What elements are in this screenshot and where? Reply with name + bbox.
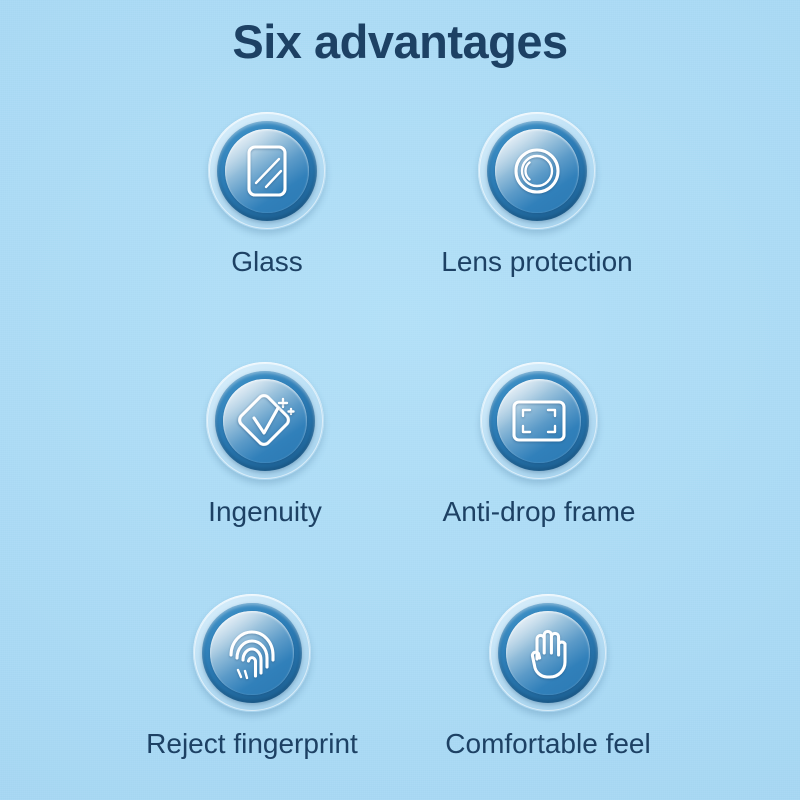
feature-label: Comfortable feel xyxy=(445,728,650,760)
feature-badge-ingenuity[interactable] xyxy=(206,362,324,480)
feature-badge-lens-protection[interactable] xyxy=(478,112,596,230)
feature-item-glass[interactable]: Glass xyxy=(142,112,392,278)
feature-label: Lens protection xyxy=(441,246,632,278)
features-row-1: Glass Lens protection xyxy=(0,112,800,362)
feature-label: Glass xyxy=(231,246,303,278)
features-row-2: Ingenuity xyxy=(0,362,800,594)
advantages-infographic: Six advantages Glass xyxy=(0,0,800,800)
badge-glossy-face xyxy=(497,379,581,463)
feature-badge-comfortable-feel[interactable] xyxy=(489,594,607,712)
feature-item-comfortable-feel[interactable]: Comfortable feel xyxy=(422,594,674,760)
feature-badge-glass[interactable] xyxy=(208,112,326,230)
feature-label: Reject fingerprint xyxy=(146,728,358,760)
badge-glossy-face xyxy=(223,379,307,463)
feature-badge-anti-drop-frame[interactable] xyxy=(480,362,598,480)
badge-glossy-face xyxy=(210,611,294,695)
feature-label: Ingenuity xyxy=(208,496,322,528)
feature-label: Anti-drop frame xyxy=(443,496,636,528)
feature-item-ingenuity[interactable]: Ingenuity xyxy=(140,362,390,528)
badge-glossy-face xyxy=(495,129,579,213)
badge-glossy-face xyxy=(225,129,309,213)
feature-badge-reject-fingerprint[interactable] xyxy=(193,594,311,712)
feature-item-reject-fingerprint[interactable]: Reject fingerprint xyxy=(126,594,378,760)
badge-glossy-face xyxy=(506,611,590,695)
feature-item-lens-protection[interactable]: Lens protection xyxy=(412,112,662,278)
page-title: Six advantages xyxy=(0,14,800,69)
feature-item-anti-drop-frame[interactable]: Anti-drop frame xyxy=(414,362,664,528)
features-row-3: Reject fingerprint Comfortable feel xyxy=(0,594,800,794)
features-grid: Glass Lens protection xyxy=(0,112,800,794)
